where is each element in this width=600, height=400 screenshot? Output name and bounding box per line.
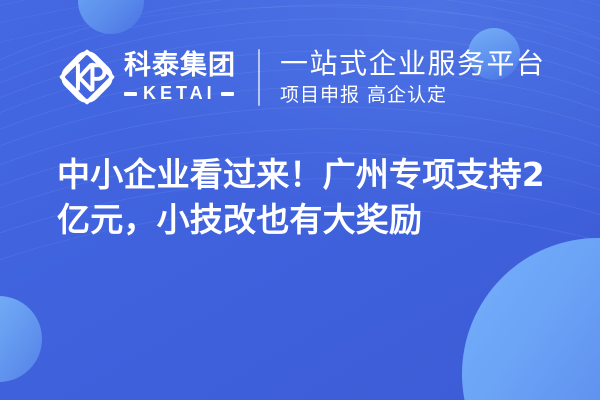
brand-logo[interactable]: 科泰集团 KETAI <box>58 48 236 106</box>
dash-left-icon <box>124 92 137 96</box>
brand-name-en-row: KETAI <box>124 84 236 103</box>
banner-header: 科泰集团 KETAI 一站式企业服务平台 项目申报 高企认定 <box>58 44 546 110</box>
tagline-sub: 项目申报 高企认定 <box>280 83 546 107</box>
header-divider <box>258 49 260 106</box>
brand-tagline: 一站式企业服务平台 项目申报 高企认定 <box>280 48 546 107</box>
tagline-main: 一站式企业服务平台 <box>280 48 546 80</box>
article-title: 中小企业看过来！广州专项支持2亿元，小技改也有大奖励 <box>57 152 557 242</box>
ketai-monogram-icon <box>58 48 116 106</box>
promo-banner: 科泰集团 KETAI 一站式企业服务平台 项目申报 高企认定 中小企业看过来！广… <box>0 0 600 400</box>
brand-name-en: KETAI <box>143 84 216 103</box>
brand-wordmark: 科泰集团 KETAI <box>124 51 236 103</box>
dash-right-icon <box>221 92 234 96</box>
brand-name-cn: 科泰集团 <box>124 51 236 81</box>
